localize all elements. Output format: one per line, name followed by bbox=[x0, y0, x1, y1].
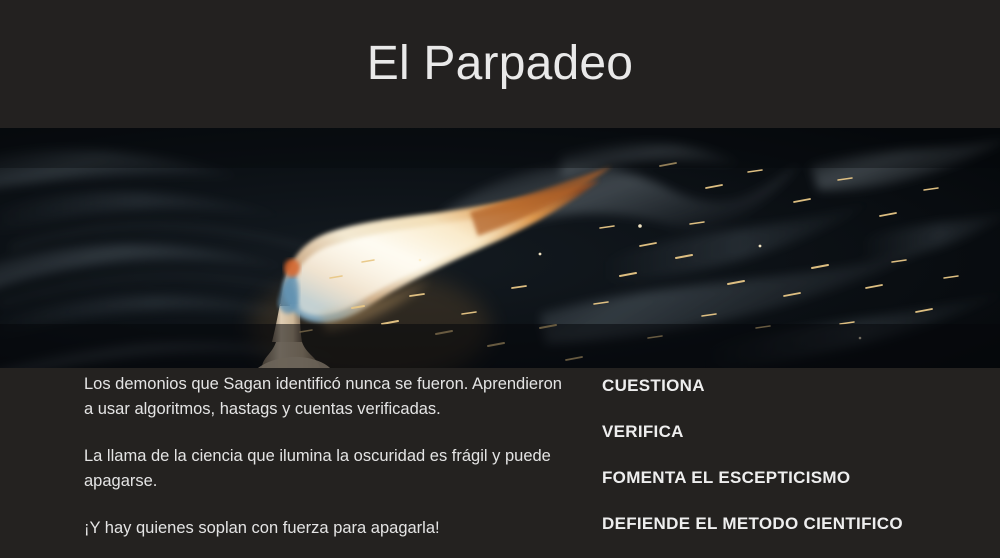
page-root: El Parpadeo bbox=[0, 0, 1000, 558]
site-header: El Parpadeo bbox=[0, 0, 1000, 128]
content-section: Los demonios que Sagan identificó nunca … bbox=[0, 368, 1000, 558]
article-text: Los demonios que Sagan identificó nunca … bbox=[84, 372, 564, 541]
page-title: El Parpadeo bbox=[367, 40, 633, 88]
principle-item-escepticismo: FOMENTA EL ESCEPTICISMO bbox=[602, 468, 992, 488]
candle-flame-illustration bbox=[0, 128, 1000, 368]
principle-item-verifica: VERIFICA bbox=[602, 422, 992, 442]
paragraph-2: La llama de la ciencia que ilumina la os… bbox=[84, 444, 564, 494]
paragraph-3: ¡Y hay quienes soplan con fuerza para ap… bbox=[84, 516, 564, 541]
principles-list: CUESTIONA VERIFICA FOMENTA EL ESCEPTICIS… bbox=[602, 376, 992, 534]
paragraph-1: Los demonios que Sagan identificó nunca … bbox=[84, 372, 564, 422]
principle-item-cuestiona: CUESTIONA bbox=[602, 376, 992, 396]
hero-image bbox=[0, 128, 1000, 368]
principle-item-metodo-cientifico: DEFIENDE EL METODO CIENTIFICO bbox=[602, 514, 992, 534]
